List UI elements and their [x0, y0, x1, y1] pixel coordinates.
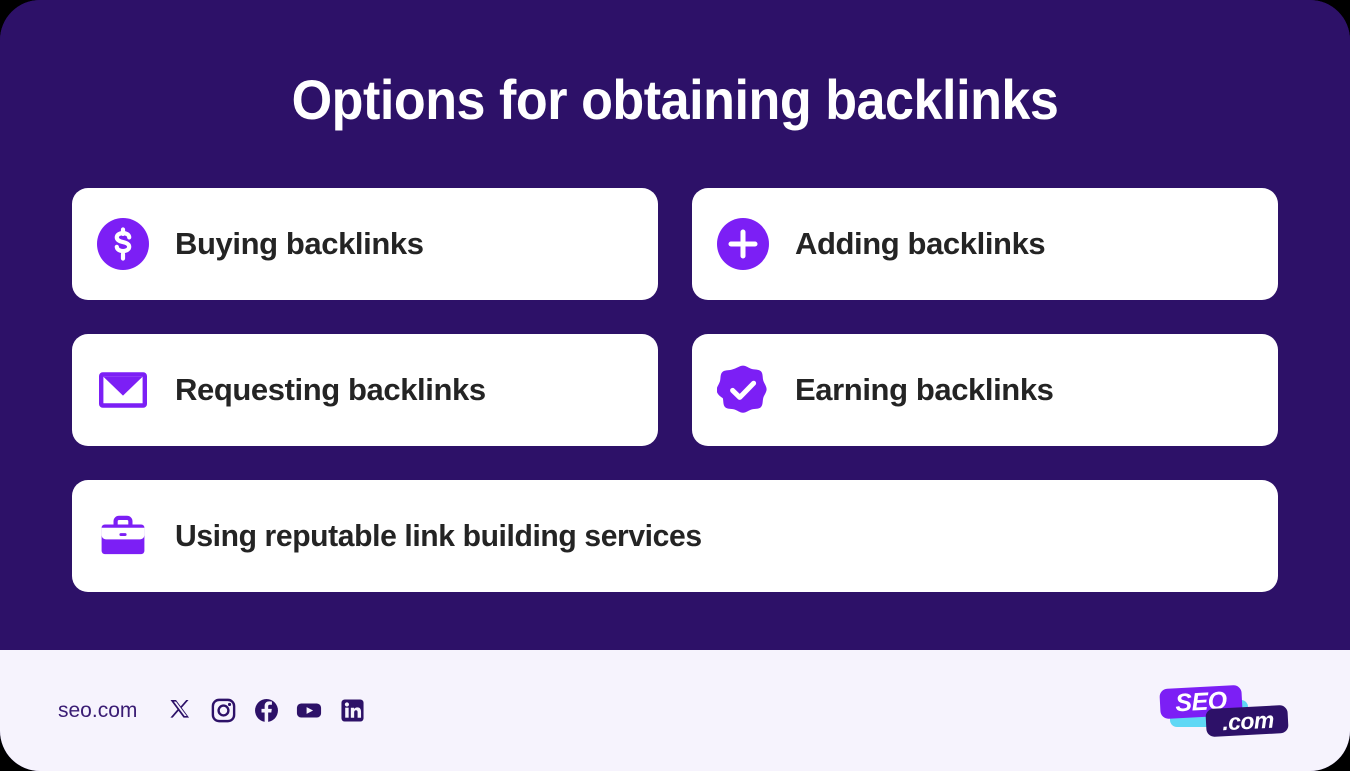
footer-domain-text: seo.com — [58, 699, 137, 723]
linkedin-icon[interactable] — [339, 698, 365, 724]
card-row-2: Requesting backlinks Earning backlinks — [72, 334, 1278, 446]
envelope-icon — [97, 364, 149, 416]
option-card-label: Buying backlinks — [175, 227, 424, 261]
option-card-link-building-services[interactable]: Using reputable link building services — [72, 480, 1278, 592]
options-list: Buying backlinks Adding backlinks — [72, 188, 1278, 592]
card-row-1: Buying backlinks Adding backlinks — [72, 188, 1278, 300]
option-card-adding-backlinks[interactable]: Adding backlinks — [692, 188, 1278, 300]
option-card-label: Adding backlinks — [795, 227, 1045, 261]
social-links — [167, 698, 365, 724]
main-content: Options for obtaining backlinks Buying b… — [0, 0, 1350, 650]
x-twitter-icon[interactable] — [167, 698, 193, 724]
logo-secondary-text: .com — [1222, 706, 1275, 735]
option-card-label: Requesting backlinks — [175, 373, 486, 407]
briefcase-icon — [97, 510, 149, 562]
verified-check-badge-icon — [717, 364, 769, 416]
footer-left-group: seo.com — [58, 698, 365, 724]
footer-bar: seo.com — [0, 650, 1350, 771]
option-card-buying-backlinks[interactable]: Buying backlinks — [72, 188, 658, 300]
option-card-requesting-backlinks[interactable]: Requesting backlinks — [72, 334, 658, 446]
instagram-icon[interactable] — [210, 698, 236, 724]
seo-dot-com-logo[interactable]: SEO .com — [1152, 680, 1294, 742]
dollar-circle-icon — [97, 218, 149, 270]
option-card-label: Earning backlinks — [795, 373, 1054, 407]
option-card-earning-backlinks[interactable]: Earning backlinks — [692, 334, 1278, 446]
page-title: Options for obtaining backlinks — [114, 72, 1236, 128]
plus-circle-icon — [717, 218, 769, 270]
option-card-label: Using reputable link building services — [175, 519, 702, 553]
infographic-card: Options for obtaining backlinks Buying b… — [0, 0, 1350, 771]
facebook-icon[interactable] — [253, 698, 279, 724]
card-row-3: Using reputable link building services — [72, 480, 1278, 592]
youtube-icon[interactable] — [296, 698, 322, 724]
